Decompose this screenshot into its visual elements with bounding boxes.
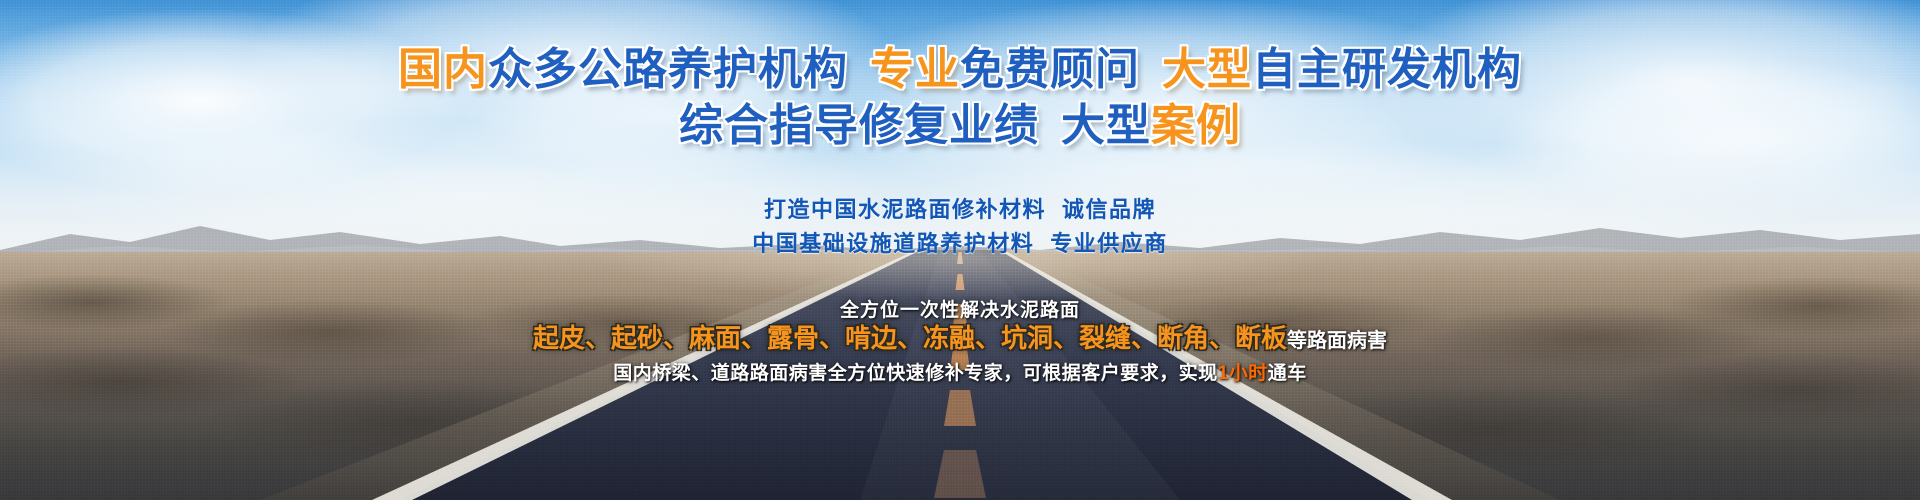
promo-banner: 国内众多公路养护机构专业免费顾问大型自主研发机构 综合指导修复业绩大型案例 打造… (0, 0, 1920, 500)
headline-line-1: 国内众多公路养护机构专业免费顾问大型自主研发机构 (0, 48, 1920, 92)
headline-seg-rnd: 自主研发机构 (1252, 45, 1522, 94)
headline-seg-large-scale: 大型 (1162, 45, 1252, 94)
headline-line-2: 综合指导修复业绩大型案例 (0, 104, 1920, 148)
headline-seg-domestic: 国内 (398, 45, 488, 94)
subtitle-line-2: 中国基础设施道路养护材料专业供应商 (0, 226, 1920, 258)
footer-claim-line: 国内桥梁、道路路面病害全方位快速修补专家，可根据客户要求，实现1小时通车 (0, 358, 1920, 385)
headline-seg-cases: 案例 (1151, 101, 1241, 150)
footer-claim-prefix: 国内桥梁、道路路面病害全方位快速修补专家，可根据客户要求，实现 (613, 363, 1218, 384)
subtitle-brand-material: 打造中国水泥路面修补材料 (764, 197, 1046, 222)
disease-list-tail: 等路面病害 (1287, 330, 1387, 352)
subtitle-infrastructure-material: 中国基础设施道路养护材料 (752, 231, 1034, 256)
headline-seg-track-record: 综合指导修复业绩 (679, 101, 1039, 150)
subtitle-supplier: 专业供应商 (1050, 231, 1168, 256)
subtitle-trusted-brand: 诚信品牌 (1062, 197, 1156, 222)
subtitle-line-1: 打造中国水泥路面修补材料诚信品牌 (0, 192, 1920, 224)
disease-list-line: 起皮、起砂、麻面、露骨、啃边、冻融、坑洞、裂缝、断角、断板等路面病害 (0, 318, 1920, 355)
footer-claim-suffix: 通车 (1268, 363, 1307, 384)
footer-claim-highlight: 1小时 (1218, 363, 1268, 384)
headline-seg-large: 大型 (1061, 101, 1151, 150)
headline-seg-agencies: 众多公路养护机构 (488, 45, 848, 94)
disease-list-orange: 起皮、起砂、麻面、露骨、啃边、冻融、坑洞、裂缝、断角、断板 (533, 323, 1287, 353)
headline-seg-free-consult: 免费顾问 (960, 45, 1140, 94)
headline-seg-professional: 专业 (870, 45, 960, 94)
